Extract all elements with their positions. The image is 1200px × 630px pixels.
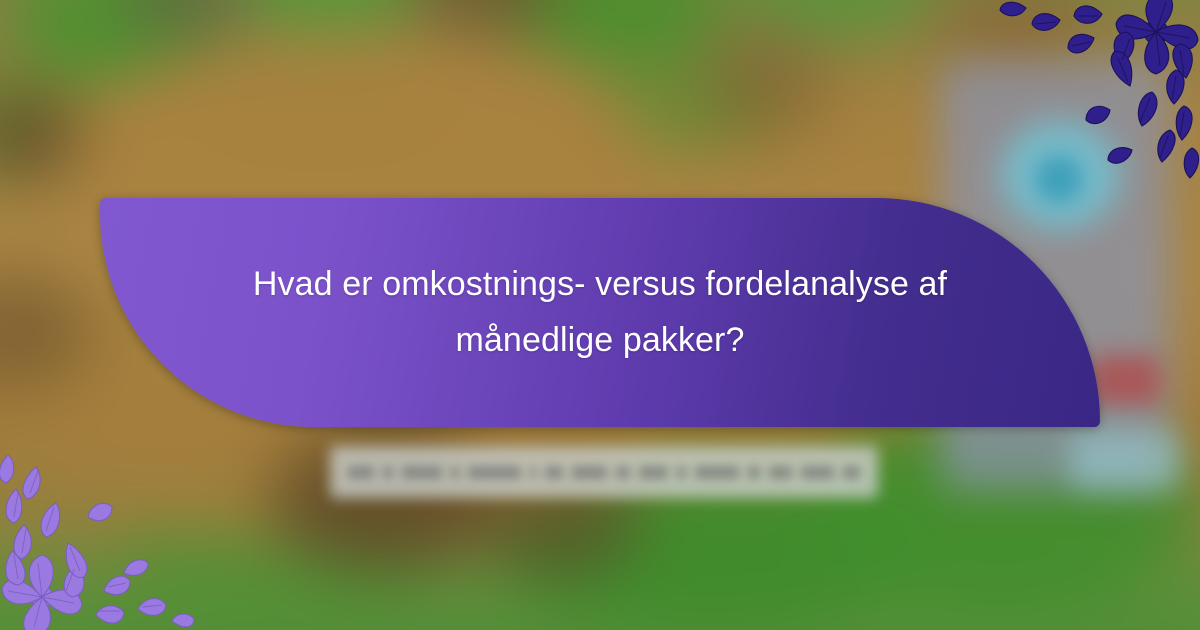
screenshot-canvas: Hvad er omkostnings- versus fordelanalys… — [0, 0, 1200, 630]
scenery-object — [0, 90, 80, 180]
title-banner: Hvad er omkostnings- versus fordelanalys… — [100, 198, 1100, 427]
blurred-panel-item — [1070, 430, 1180, 490]
blurred-panel-icon-core — [1035, 155, 1083, 203]
banner-title: Hvad er omkostnings- versus fordelanalys… — [230, 257, 970, 367]
scenery-object — [700, 30, 830, 140]
blurred-panel-item — [1090, 355, 1160, 405]
blurred-caption-text — [348, 462, 860, 482]
